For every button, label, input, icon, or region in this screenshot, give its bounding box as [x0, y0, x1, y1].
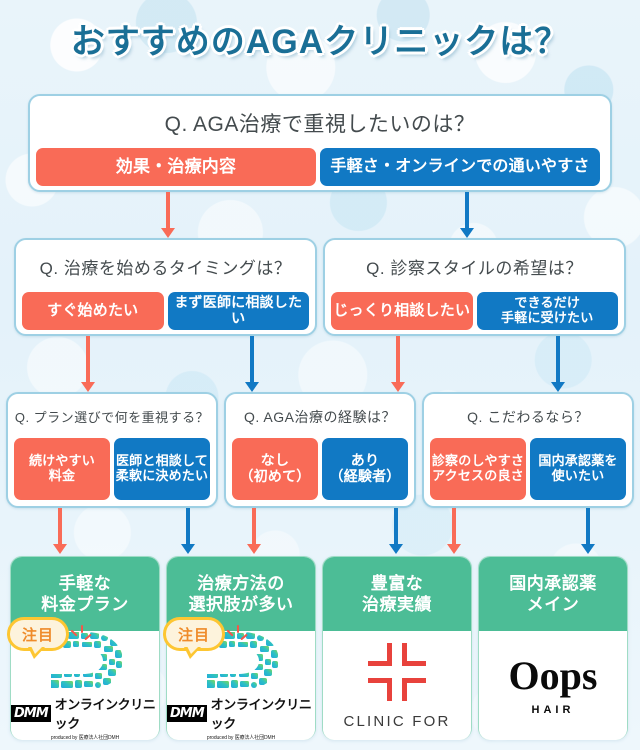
result-card-easy-price[interactable]: 手軽な 料金プラン 注目 — [10, 556, 160, 740]
dmm-producer-note: produced by 医療法人社団DMH — [207, 734, 275, 741]
flow-arrow-red — [252, 508, 256, 554]
result-card-track-record[interactable]: 豊富な 治療実績 CLINIC FOR — [322, 556, 472, 740]
oops-brand-sub: HAIR — [532, 704, 575, 716]
question-title: Q. AGA治療で重視したいのは？ — [30, 108, 610, 138]
question-card-preference[interactable]: Q. こだわるなら？ 診察のしやすさ アクセスの良さ 国内承認薬を 使いたい — [422, 392, 634, 508]
question-card-experience[interactable]: Q. AGA治療の経験は？ なし （初めて） あり （経験者） — [224, 392, 416, 508]
result-heading: 豊富な 治療実績 — [323, 557, 471, 631]
result-logo-area: Oops HAIR — [479, 631, 627, 740]
flow-arrow-red — [58, 508, 62, 554]
question-card-plan[interactable]: Q. プラン選びで何を重視する？ 続けやすい 料金 医師と相談して 柔軟に決めた… — [6, 392, 218, 508]
clinic-for-brand-name: CLINIC FOR — [343, 713, 450, 730]
option-blue[interactable]: 国内承認薬を 使いたい — [530, 438, 626, 500]
flow-arrow-red — [166, 192, 170, 238]
dmm-producer-note: produced by 医療法人社団DMH — [51, 734, 119, 741]
question-title: Q. 治療を始めるタイミングは？ — [16, 254, 315, 279]
dmm-wordmark: DMM — [11, 705, 51, 722]
page-title: おすすめのAGAクリニックは？ — [0, 14, 640, 63]
option-blue[interactable]: 医師と相談して 柔軟に決めたい — [114, 438, 210, 500]
flow-arrow-blue — [250, 336, 254, 392]
option-red[interactable]: なし （初めて） — [232, 438, 318, 500]
question-title: Q. 診察スタイルの希望は？ — [325, 254, 624, 279]
option-red[interactable]: 続けやすい 料金 — [14, 438, 110, 500]
question-card-priority[interactable]: Q. AGA治療で重視したいのは？ 効果・治療内容 手軽さ・オンラインでの通いや… — [28, 94, 612, 192]
clinic-for-cross-icon — [366, 641, 428, 703]
flow-arrow-red — [452, 508, 456, 554]
flow-arrow-blue — [556, 336, 560, 392]
option-blue[interactable]: できるだけ 手軽に受けたい — [477, 292, 619, 330]
result-heading: 国内承認薬 メイン — [479, 557, 627, 631]
oops-brand-name: Oops — [509, 656, 598, 696]
result-card-approved-drugs[interactable]: 国内承認薬 メイン Oops HAIR — [478, 556, 628, 740]
question-title: Q. プラン選びで何を重視する？ — [8, 407, 216, 426]
question-card-timing[interactable]: Q. 治療を始めるタイミングは？ すぐ始めたい まず医師に相談したい — [14, 238, 317, 336]
option-red[interactable]: じっくり相談したい — [331, 292, 473, 330]
option-blue[interactable]: 手軽さ・オンラインでの通いやすさ — [320, 148, 600, 186]
flow-arrow-red — [396, 336, 400, 392]
flow-arrow-blue — [186, 508, 190, 554]
flow-arrow-blue — [586, 508, 590, 554]
question-title: Q. こだわるなら？ — [424, 407, 632, 427]
attention-badge: 注目 — [7, 617, 69, 651]
option-blue[interactable]: まず医師に相談したい — [168, 292, 310, 330]
flow-arrow-blue — [394, 508, 398, 554]
option-red[interactable]: 効果・治療内容 — [36, 148, 316, 186]
attention-badge: 注目 — [163, 617, 225, 651]
dmm-brand-name: オンラインクリニック — [211, 694, 315, 732]
flow-arrow-red — [86, 336, 90, 392]
sparkle-icon — [227, 625, 247, 647]
result-logo-area: CLINIC FOR — [323, 631, 471, 740]
result-logo-area: 注目 — [11, 631, 159, 740]
result-card-many-options[interactable]: 治療方法の 選択肢が多い 注目 — [166, 556, 316, 740]
result-logo-area: 注目 — [167, 631, 315, 740]
dmm-wordmark: DMM — [167, 705, 207, 722]
question-card-consult-style[interactable]: Q. 診察スタイルの希望は？ じっくり相談したい できるだけ 手軽に受けたい — [323, 238, 626, 336]
flow-arrow-blue — [465, 192, 469, 238]
question-title: Q. AGA治療の経験は？ — [226, 407, 414, 427]
dmm-brand-name: オンラインクリニック — [55, 694, 159, 732]
option-red[interactable]: 診察のしやすさ アクセスの良さ — [430, 438, 526, 500]
sparkle-icon — [71, 625, 91, 647]
option-red[interactable]: すぐ始めたい — [22, 292, 164, 330]
option-blue[interactable]: あり （経験者） — [322, 438, 408, 500]
